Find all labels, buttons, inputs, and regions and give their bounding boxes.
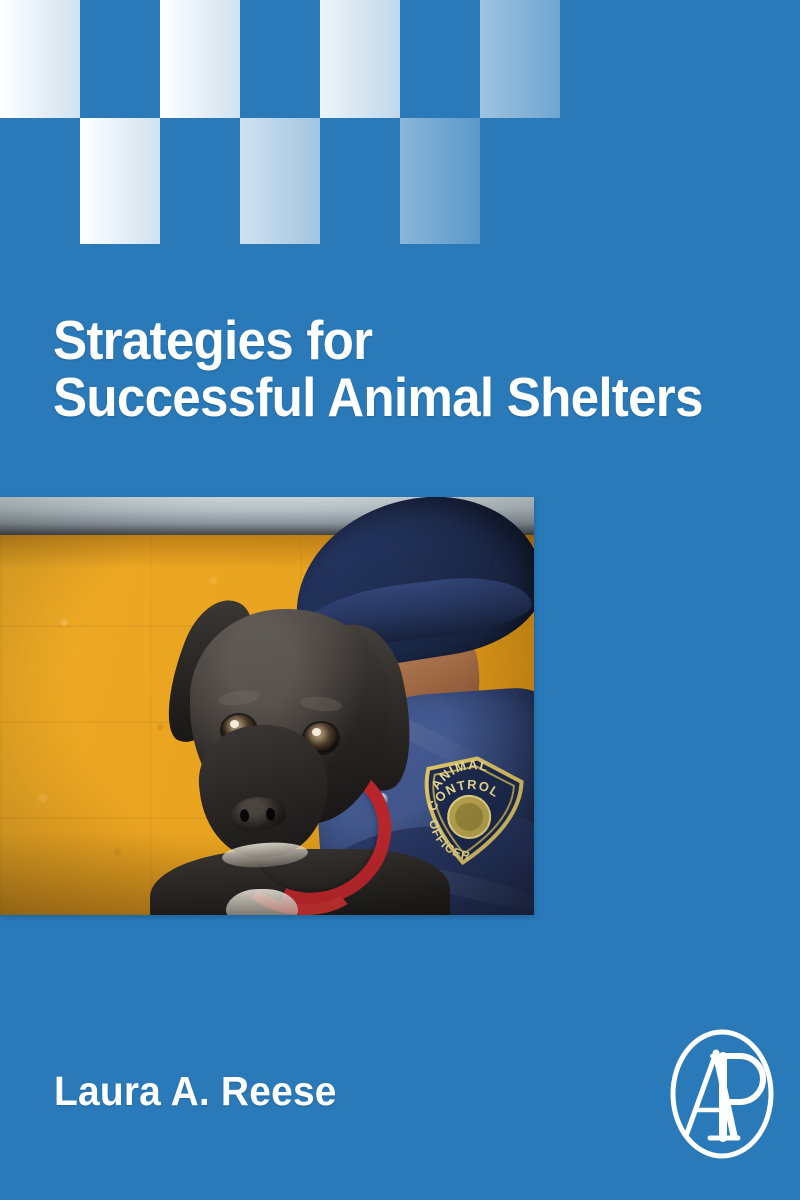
nostril-left	[240, 809, 250, 823]
banner-tile	[80, 118, 160, 244]
title-line-1: Strategies for	[53, 312, 704, 369]
banner-tile	[480, 0, 560, 118]
nostril-right	[266, 808, 276, 822]
title-line-2: Successful Animal Shelters	[53, 369, 704, 426]
eye-glint	[312, 728, 321, 736]
author-name: Laura A. Reese	[54, 1068, 337, 1115]
banner-tile	[0, 0, 80, 118]
book-cover: Strategies for Successful Animal Shelter…	[0, 0, 800, 1200]
patch-icon: ANIMAL CONTROL OFFICER	[409, 748, 532, 874]
banner-tile	[320, 0, 400, 118]
academic-press-logo-icon	[666, 1026, 778, 1162]
page-title: Strategies for Successful Animal Shelter…	[53, 312, 753, 426]
ap-monogram-icon	[666, 1026, 778, 1162]
checkerboard-banner	[0, 0, 800, 244]
banner-tile	[400, 118, 480, 244]
eye-glint	[230, 720, 239, 728]
banner-tile	[240, 118, 320, 244]
cover-photo: ANIMAL CONTROL OFFICER	[0, 497, 534, 915]
banner-tile	[160, 0, 240, 118]
animal-control-patch: ANIMAL CONTROL OFFICER	[409, 748, 532, 874]
